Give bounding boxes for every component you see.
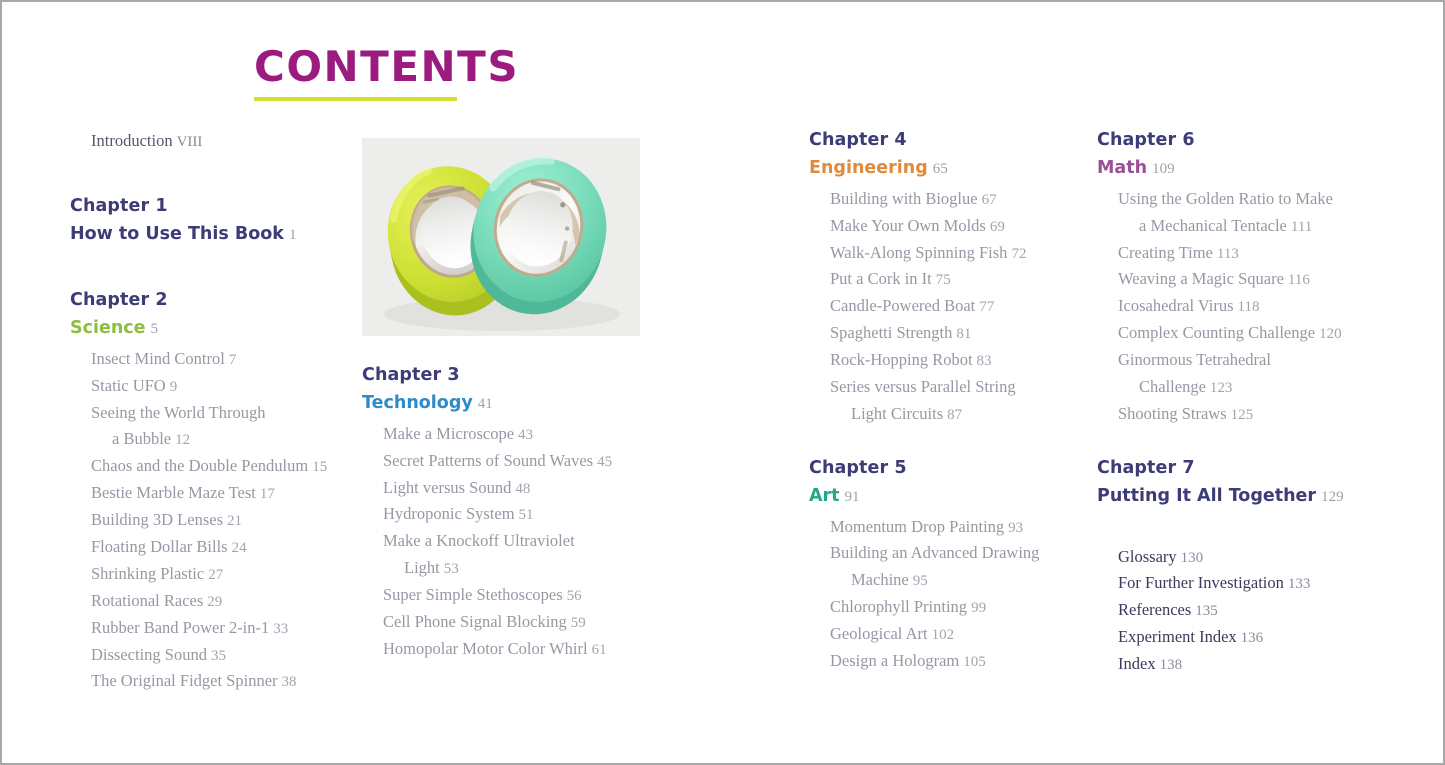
title-underline-rule [254, 97, 457, 101]
entry-page: 130 [1181, 550, 1204, 566]
spacer [1097, 428, 1397, 458]
entry-page: 111 [1291, 219, 1312, 235]
spacer [809, 428, 1094, 458]
entry-page: 75 [936, 272, 951, 288]
entry-text: Design a Hologram [830, 651, 959, 670]
chapter-block-4: Chapter 4 Engineering65 Building with Bi… [809, 130, 1094, 428]
entry-text: Dissecting Sound [91, 645, 207, 664]
entry-text: Using the Golden Ratio to Make [1118, 189, 1333, 208]
entry-page: 38 [282, 674, 297, 690]
entry-text: Experiment Index [1118, 627, 1237, 646]
contents-column-four: Chapter 6 Math109 Using the Golden Ratio… [1097, 130, 1397, 678]
entry-text: Secret Patterns of Sound Waves [383, 451, 593, 470]
chapter-title-text-5: Art [809, 486, 840, 506]
entry-page: 105 [963, 654, 986, 670]
list-item[interactable]: Super Simple Stethoscopes56 [362, 582, 647, 609]
list-item[interactable]: Bestie Marble Maze Test17 [70, 480, 355, 507]
list-item[interactable]: Dissecting Sound35 [70, 642, 355, 669]
entry-text: Icosahedral Virus [1118, 296, 1234, 315]
entry-text: Creating Time [1118, 243, 1213, 262]
chapter-label-4: Chapter 4 [809, 130, 1094, 152]
entry-page: 118 [1238, 299, 1260, 315]
list-item[interactable]: For Further Investigation133 [1097, 570, 1397, 597]
chapter-block-3: Chapter 3 Technology41 Make a Microscope… [362, 365, 647, 663]
list-item[interactable]: Homopolar Motor Color Whirl61 [362, 636, 647, 663]
entry-page: 95 [913, 573, 928, 589]
entry-page: 53 [444, 561, 459, 577]
entry-page: 125 [1231, 407, 1254, 423]
chapter-title-text-3: Technology [362, 393, 473, 413]
chapter-label-1: Chapter 1 [70, 196, 355, 218]
contents-column-three: Chapter 4 Engineering65 Building with Bi… [809, 130, 1094, 675]
entry-page: 12 [175, 432, 190, 448]
entry-text: Seeing the World Through [91, 403, 266, 422]
list-item[interactable]: Rotational Races29 [70, 588, 355, 615]
chapter-page-6: 109 [1152, 161, 1175, 177]
entry-page: 120 [1319, 326, 1342, 342]
list-item[interactable]: Light versus Sound48 [362, 475, 647, 502]
chapter-block-1: Chapter 1 How to Use This Book1 [70, 196, 355, 246]
chapter-block-2: Chapter 2 Science5 Insect Mind Control7 … [70, 290, 355, 695]
entry-text: Chaos and the Double Pendulum [91, 456, 308, 475]
list-item[interactable]: Walk-Along Spinning Fish72 [809, 240, 1094, 267]
frontmatter-label: Introduction [91, 131, 173, 150]
chapter-title-7[interactable]: Putting It All Together129 [1097, 486, 1397, 508]
entry-page: 81 [956, 326, 971, 342]
entry-text: Machine [851, 570, 909, 589]
list-item[interactable]: Static UFO9 [70, 373, 355, 400]
contents-column-two: Chapter 3 Technology41 Make a Microscope… [362, 130, 647, 663]
entry-text: a Bubble [112, 429, 171, 448]
entry-page: 72 [1011, 246, 1026, 262]
entry-page: 69 [990, 219, 1005, 235]
entry-page: 59 [571, 615, 586, 631]
entry-page: 7 [229, 352, 237, 368]
frontmatter-introduction[interactable]: IntroductionVIII [70, 130, 355, 152]
list-item[interactable]: Geological Art102 [809, 621, 1094, 648]
chapter-page-1: 1 [289, 227, 297, 243]
spacer [1097, 508, 1397, 538]
chapter-title-4[interactable]: Engineering65 [809, 158, 1094, 180]
list-item[interactable]: Rubber Band Power 2-in-133 [70, 615, 355, 642]
entry-page: 136 [1241, 630, 1264, 646]
list-item[interactable]: Cell Phone Signal Blocking59 [362, 609, 647, 636]
entry-text: Building an Advanced Drawing [830, 543, 1039, 562]
entry-page: 102 [932, 627, 955, 643]
entry-text: For Further Investigation [1118, 573, 1284, 592]
entry-page: 17 [260, 486, 275, 502]
entry-text: a Mechanical Tentacle [1139, 216, 1287, 235]
entry-text: Momentum Drop Painting [830, 517, 1004, 536]
chapter-title-text-1: How to Use This Book [70, 224, 284, 244]
list-item[interactable]: Building with Bioglue67 [809, 186, 1094, 213]
entry-page: 15 [312, 459, 327, 475]
page-title: CONTENTS [254, 46, 519, 88]
chapter-title-3[interactable]: Technology41 [362, 393, 647, 415]
entry-text: The Original Fidget Spinner [91, 671, 278, 690]
chapter-entries-2: Insect Mind Control7 Static UFO9 Seeing … [70, 346, 355, 696]
entry-text: Make a Microscope [383, 424, 514, 443]
list-item[interactable]: Using the Golden Ratio to Make [1097, 186, 1397, 213]
entry-page: 61 [592, 642, 607, 658]
list-item-continuation[interactable]: a Mechanical Tentacle111 [1097, 213, 1397, 240]
chapter-label-3: Chapter 3 [362, 365, 647, 387]
list-item[interactable]: Rock-Hopping Robot83 [809, 347, 1094, 374]
list-item-continuation[interactable]: Machine95 [809, 567, 1094, 594]
entry-text: Geological Art [830, 624, 928, 643]
list-item[interactable]: Chaos and the Double Pendulum15 [70, 453, 355, 480]
list-item[interactable]: Icosahedral Virus118 [1097, 293, 1397, 320]
entry-page: 27 [208, 567, 223, 583]
list-item-continuation[interactable]: Light Circuits87 [809, 401, 1094, 428]
list-item[interactable]: Series versus Parallel String [809, 374, 1094, 401]
entry-text: Building with Bioglue [830, 189, 978, 208]
entry-text: Weaving a Magic Square [1118, 269, 1284, 288]
entry-page: 45 [597, 454, 612, 470]
list-item[interactable]: Make Your Own Molds69 [809, 213, 1094, 240]
entry-page: 83 [977, 353, 992, 369]
entry-page: 116 [1288, 272, 1310, 288]
list-item[interactable]: Complex Counting Challenge120 [1097, 320, 1397, 347]
contents-page: CONTENTS [0, 0, 1445, 765]
chapter-block-7: Chapter 7 Putting It All Together129 [1097, 458, 1397, 508]
entry-page: 138 [1160, 657, 1183, 673]
entry-text: Static UFO [91, 376, 166, 395]
entry-text: Put a Cork in It [830, 269, 932, 288]
list-item[interactable]: Make a Knockoff Ultraviolet [362, 528, 647, 555]
entry-page: 51 [519, 507, 534, 523]
list-item[interactable]: Building 3D Lenses21 [70, 507, 355, 534]
chapter-entries-6: Using the Golden Ratio to Make a Mechani… [1097, 186, 1397, 428]
chapter-title-5[interactable]: Art91 [809, 486, 1094, 508]
entry-text: Index [1118, 654, 1156, 673]
list-item[interactable]: Candle-Powered Boat77 [809, 293, 1094, 320]
spacer [70, 246, 355, 290]
list-item[interactable]: Ginormous Tetrahedral [1097, 347, 1397, 374]
entry-text: Light versus Sound [383, 478, 511, 497]
entry-page: 56 [567, 588, 582, 604]
chapter-page-3: 41 [478, 396, 493, 412]
list-item-continuation[interactable]: Challenge123 [1097, 374, 1397, 401]
chapter-title-1[interactable]: How to Use This Book1 [70, 224, 355, 246]
chapter-title-text-7: Putting It All Together [1097, 486, 1316, 506]
backmatter-entries: Glossary130 For Further Investigation133… [1097, 544, 1397, 678]
list-item[interactable]: The Original Fidget Spinner38 [70, 668, 355, 695]
entry-page: 93 [1008, 520, 1023, 536]
page-title-block: CONTENTS [254, 46, 519, 101]
chapter-label-6: Chapter 6 [1097, 130, 1397, 152]
chapter-title-text-4: Engineering [809, 158, 928, 178]
entry-page: 33 [273, 621, 288, 637]
chapter-page-2: 5 [151, 321, 159, 337]
entry-text: Light [404, 558, 440, 577]
list-item[interactable]: Hydroponic System51 [362, 501, 647, 528]
entry-text: Cell Phone Signal Blocking [383, 612, 567, 631]
list-item[interactable]: Creating Time113 [1097, 240, 1397, 267]
entry-text: Rock-Hopping Robot [830, 350, 973, 369]
chapter-entries-5: Momentum Drop Painting93 Building an Adv… [809, 514, 1094, 675]
entry-text: Chlorophyll Printing [830, 597, 967, 616]
entry-text: Ginormous Tetrahedral [1118, 350, 1271, 369]
list-item[interactable]: Index138 [1097, 651, 1397, 678]
entry-text: Walk-Along Spinning Fish [830, 243, 1007, 262]
entry-text: Bestie Marble Maze Test [91, 483, 256, 502]
list-item-continuation[interactable]: a Bubble12 [70, 426, 355, 453]
chapter-title-2[interactable]: Science5 [70, 318, 355, 340]
list-item[interactable]: Make a Microscope43 [362, 421, 647, 448]
entry-text: Glossary [1118, 547, 1177, 566]
entry-text: Hydroponic System [383, 504, 515, 523]
entry-text: Make a Knockoff Ultraviolet [383, 531, 575, 550]
entry-text: Super Simple Stethoscopes [383, 585, 563, 604]
list-item[interactable]: Seeing the World Through [70, 400, 355, 427]
entry-page: 99 [971, 600, 986, 616]
list-item[interactable]: Building an Advanced Drawing [809, 540, 1094, 567]
entry-text: Complex Counting Challenge [1118, 323, 1315, 342]
entry-page: 123 [1210, 380, 1233, 396]
entry-text: Shooting Straws [1118, 404, 1227, 423]
entry-page: 77 [979, 299, 994, 315]
chapter-page-4: 65 [933, 161, 948, 177]
chapter-label-7: Chapter 7 [1097, 458, 1397, 480]
entry-page: 87 [947, 407, 962, 423]
entry-text: References [1118, 600, 1191, 619]
entry-page: 113 [1217, 246, 1239, 262]
chapter-label-2: Chapter 2 [70, 290, 355, 312]
list-item[interactable]: Secret Patterns of Sound Waves45 [362, 448, 647, 475]
entry-text: Challenge [1139, 377, 1206, 396]
list-item[interactable]: Experiment Index136 [1097, 624, 1397, 651]
chapter-title-text-2: Science [70, 318, 146, 338]
entry-page: 35 [211, 648, 226, 664]
spacer [70, 152, 355, 196]
entry-text: Light Circuits [851, 404, 943, 423]
entry-text: Rotational Races [91, 591, 203, 610]
list-item[interactable]: Put a Cork in It75 [809, 266, 1094, 293]
entry-text: Shrinking Plastic [91, 564, 204, 583]
list-item[interactable]: Spaghetti Strength81 [809, 320, 1094, 347]
entry-text: Rubber Band Power 2-in-1 [91, 618, 269, 637]
entry-text: Insect Mind Control [91, 349, 225, 368]
entry-text: Spaghetti Strength [830, 323, 952, 342]
list-item[interactable]: Shrinking Plastic27 [70, 561, 355, 588]
chapter-label-5: Chapter 5 [809, 458, 1094, 480]
list-item[interactable]: Design a Hologram105 [809, 648, 1094, 675]
entry-text: Candle-Powered Boat [830, 296, 975, 315]
chapter-block-5: Chapter 5 Art91 Momentum Drop Painting93… [809, 458, 1094, 675]
list-item[interactable]: Shooting Straws125 [1097, 401, 1397, 428]
entry-page: 21 [227, 513, 242, 529]
entry-text: Make Your Own Molds [830, 216, 986, 235]
entry-page: 48 [515, 481, 530, 497]
entry-page: 135 [1195, 603, 1218, 619]
chapter-entries-3: Make a Microscope43 Secret Patterns of S… [362, 421, 647, 663]
entry-text: Series versus Parallel String [830, 377, 1016, 396]
list-item[interactable]: Chlorophyll Printing99 [809, 594, 1094, 621]
chapter-page-7: 129 [1321, 489, 1344, 505]
entry-text: Homopolar Motor Color Whirl [383, 639, 588, 658]
entry-page: 67 [982, 192, 997, 208]
entry-page: 133 [1288, 576, 1311, 592]
contents-column-one: IntroductionVIII Chapter 1 How to Use Th… [70, 130, 355, 695]
list-item[interactable]: Momentum Drop Painting93 [809, 514, 1094, 541]
chapter-page-5: 91 [845, 489, 860, 505]
chapter-title-text-6: Math [1097, 158, 1147, 178]
entry-text: Building 3D Lenses [91, 510, 223, 529]
chapter-entries-4: Building with Bioglue67 Make Your Own Mo… [809, 186, 1094, 428]
list-item[interactable]: Floating Dollar Bills24 [70, 534, 355, 561]
list-item[interactable]: References135 [1097, 597, 1397, 624]
chapter-title-6[interactable]: Math109 [1097, 158, 1397, 180]
photo-spacer [362, 130, 647, 365]
list-item[interactable]: Weaving a Magic Square116 [1097, 266, 1397, 293]
entry-page: 43 [518, 427, 533, 443]
entry-text: Floating Dollar Bills [91, 537, 228, 556]
list-item-continuation[interactable]: Light53 [362, 555, 647, 582]
entry-page: 24 [232, 540, 247, 556]
entry-page: 29 [207, 594, 222, 610]
entry-page: 9 [170, 379, 178, 395]
frontmatter-page: VIII [177, 134, 203, 150]
chapter-block-6: Chapter 6 Math109 Using the Golden Ratio… [1097, 130, 1397, 428]
list-item[interactable]: Insect Mind Control7 [70, 346, 355, 373]
list-item[interactable]: Glossary130 [1097, 544, 1397, 571]
